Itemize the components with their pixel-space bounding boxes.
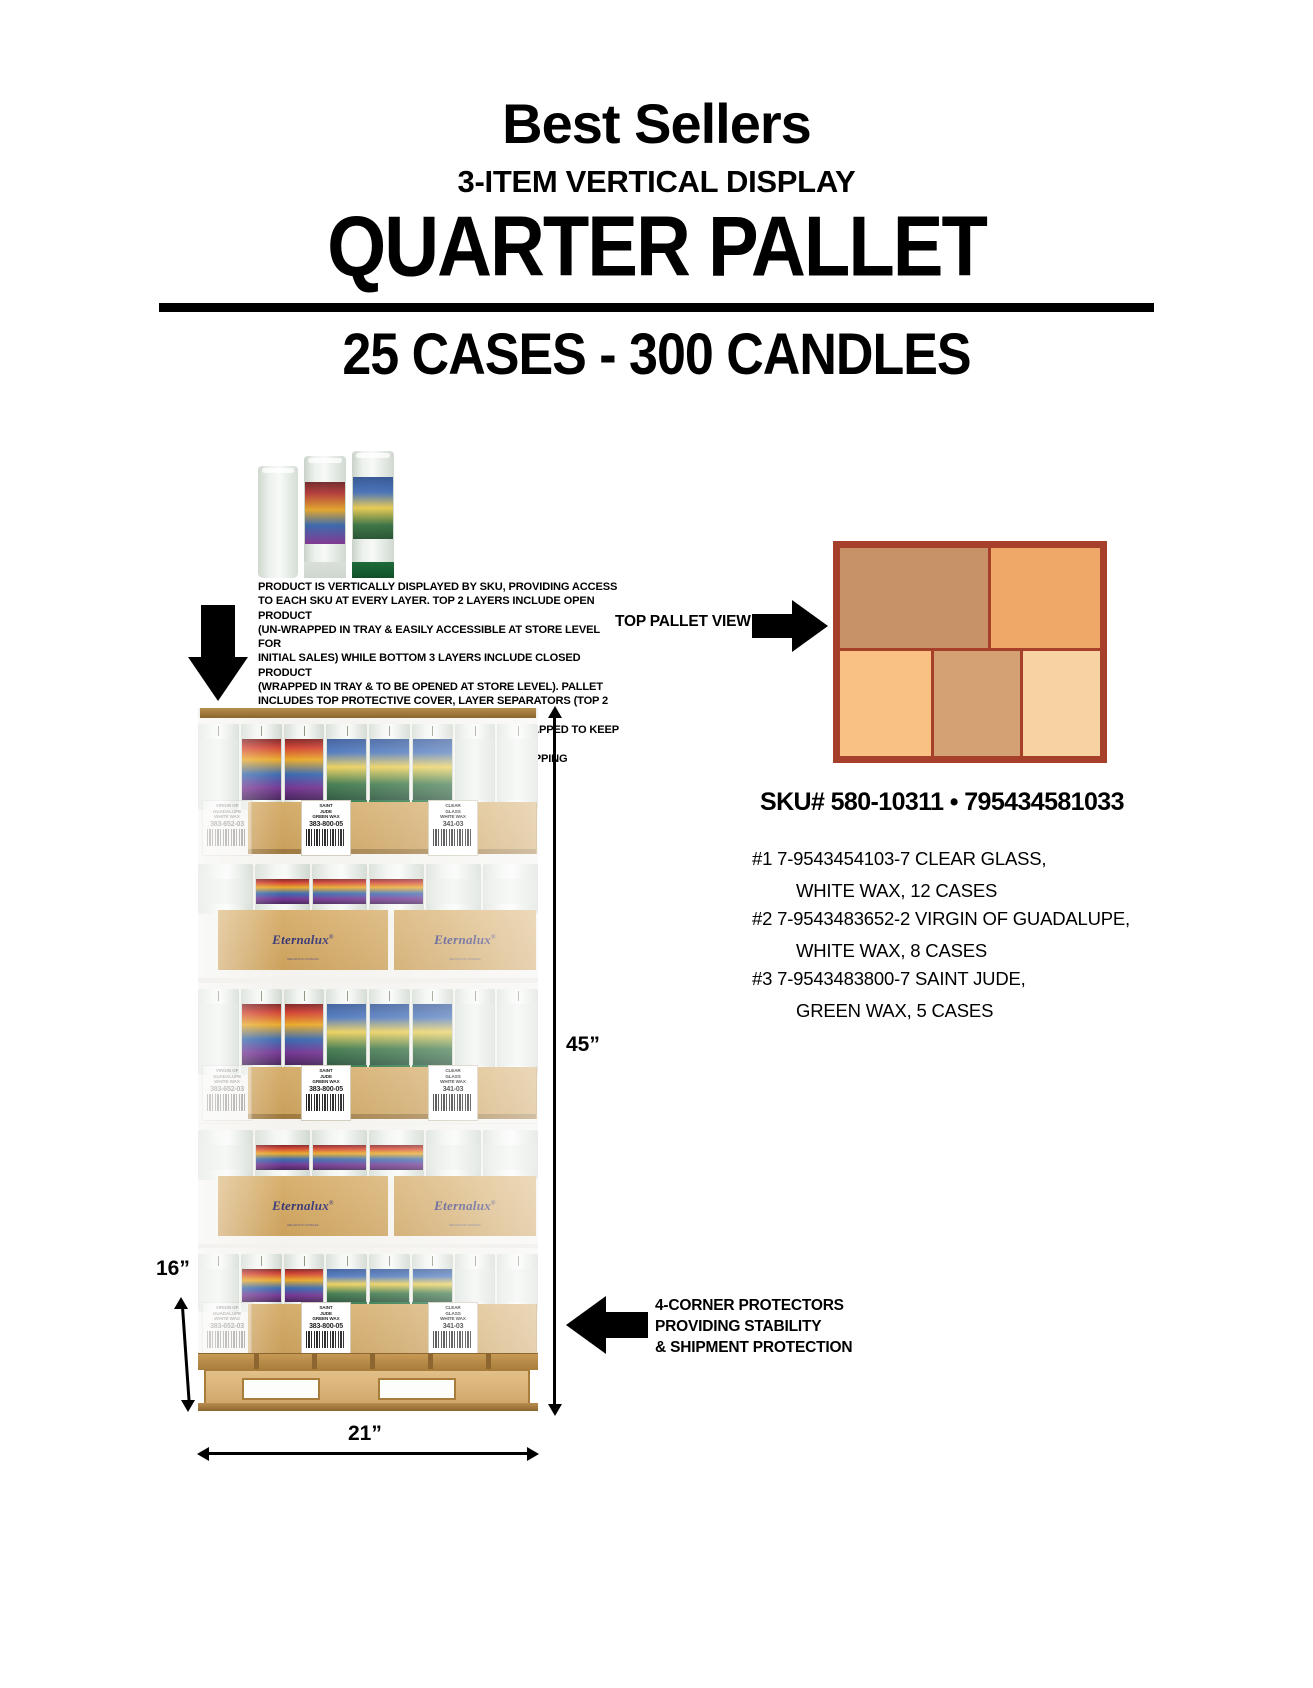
candle-rim — [308, 458, 342, 463]
pallet-stringer — [204, 1369, 530, 1407]
sku-item-list: #1 7-9543454103-7 CLEAR GLASS, WHITE WAX… — [752, 840, 1202, 1020]
case-label-guadalupe: VIRGIN OF GUADALUPE WHITE WAX 383-652-03 — [202, 800, 252, 856]
dimension-label-width: 21” — [348, 1422, 382, 1446]
arrow-left-icon — [566, 1296, 648, 1354]
candle-row — [198, 724, 538, 810]
top-pallet-view-grid — [840, 548, 1100, 756]
arrow-shaft — [752, 614, 796, 638]
candle-unit — [198, 989, 239, 1075]
candle-unit — [412, 989, 453, 1075]
pallet-layer-1-open: VIRGIN OF GUADALUPE WHITE WAX 383-652-03… — [198, 718, 538, 858]
sku-list-item: #2 7-9543483652-2 VIRGIN OF GUADALUPE, W… — [752, 900, 1202, 960]
candle-unit — [497, 724, 538, 810]
dimension-arrow-left — [197, 1447, 209, 1461]
candle-unit — [369, 989, 410, 1075]
sku-list-item: #1 7-9543454103-7 CLEAR GLASS, WHITE WAX… — [752, 840, 1202, 900]
candle-row — [198, 989, 538, 1075]
case-label-saint-jude: SAINT JUDE GREEN WAX 383-800-05 — [301, 1065, 351, 1121]
sku-heading: SKU# 580-10311 • 795434581033 — [760, 788, 1124, 817]
candle-unit — [483, 864, 538, 914]
pallet-slat-gap — [370, 1353, 375, 1369]
barcode — [433, 1094, 473, 1111]
pallet-fork-opening — [378, 1378, 456, 1400]
candle-unit — [198, 724, 239, 810]
candle-base — [304, 562, 346, 578]
case-label-saint-jude: SAINT JUDE GREEN WAX 383-800-05 — [301, 1302, 351, 1353]
candle-unit — [426, 864, 481, 914]
candle-unit — [198, 864, 253, 914]
pallet-slat-gap — [254, 1353, 259, 1369]
candle-rim — [262, 468, 294, 473]
dimension-line-height — [553, 716, 556, 1406]
barcode — [306, 829, 346, 846]
pallet-layer-3-open: VIRGIN OF GUADALUPE WHITE WAX 383-652-03… — [198, 983, 538, 1123]
candle-base — [352, 562, 394, 578]
pallet-layer-4-closed: Eternalux® RELIGIOUS CANDLES Eternalux® … — [198, 1124, 538, 1244]
sku-list-item: #3 7-9543483800-7 SAINT JUDE, GREEN WAX,… — [752, 960, 1202, 1020]
candle-row — [198, 1130, 538, 1180]
wrapped-case-brand-box: Eternalux® RELIGIOUS CANDLES — [218, 910, 388, 970]
arrow-head — [792, 600, 828, 652]
candle-unit — [426, 1130, 481, 1180]
candle-rim — [356, 453, 390, 458]
dimension-arrow-right — [527, 1447, 539, 1461]
case-label-clear-glass: CLEAR GLASS WHITE WAX 341-03 — [428, 1065, 478, 1121]
barcode — [207, 1094, 247, 1111]
candle-unit — [497, 989, 538, 1075]
wrapped-case-brand-box: Eternalux® RELIGIOUS CANDLES — [218, 1176, 388, 1236]
case-count-headline: 25 CASES - 300 CANDLES — [0, 326, 1313, 384]
pallet-bottom-board — [198, 1403, 538, 1411]
candle-unit — [241, 989, 282, 1075]
page-title: Best Sellers — [0, 96, 1313, 152]
pallet-type-title: QUARTER PALLET — [0, 205, 1313, 290]
arrow-head — [188, 657, 248, 701]
header-divider — [159, 303, 1154, 312]
pallet-layers: VIRGIN OF GUADALUPE WHITE WAX 383-652-03… — [198, 708, 538, 1353]
pallet-slat-gap — [486, 1353, 491, 1369]
dimension-line-base-height — [181, 1307, 191, 1407]
dimension-line-width — [209, 1452, 527, 1455]
dimension-label-height: 45” — [566, 1033, 600, 1057]
top-view-case-block-5 — [1023, 651, 1100, 756]
candle-product-photo — [258, 443, 398, 578]
candle-unit — [369, 864, 424, 914]
barcode — [433, 829, 473, 846]
candle-label-art — [305, 482, 345, 544]
candle-unit — [483, 1130, 538, 1180]
top-view-case-block-3 — [840, 651, 931, 756]
top-view-case-block-2 — [991, 548, 1100, 648]
top-view-case-block-4 — [934, 651, 1020, 756]
candle-label-art — [353, 477, 393, 539]
callout-corner-protectors: 4-CORNER PROTECTORS PROVIDING STABILITY … — [655, 1296, 985, 1359]
candle-unit — [326, 724, 367, 810]
barcode — [207, 1331, 247, 1348]
arrow-down-icon — [188, 605, 248, 701]
candle-unit — [412, 724, 453, 810]
candle-unit — [255, 864, 310, 914]
candle-unit — [284, 724, 325, 810]
candle-virgin-of-guadalupe — [304, 456, 346, 578]
candle-saint-jude — [352, 451, 394, 578]
candle-row — [198, 864, 538, 914]
wooden-pallet-base — [198, 1353, 538, 1411]
pallet-layer-2-closed: Eternalux® RELIGIOUS CANDLES Eternalux® … — [198, 858, 538, 978]
dimension-arrow-bottom — [181, 1400, 195, 1412]
dimension-arrow-top — [548, 706, 562, 718]
case-label-guadalupe: VIRGIN OF GUADALUPE WHITE WAX 383-652-03 — [202, 1302, 252, 1353]
arrow-shaft — [201, 605, 235, 659]
pallet-slat-gap — [428, 1353, 433, 1369]
candle-unit — [312, 1130, 367, 1180]
top-pallet-view-label: TOP PALLET VIEW — [615, 613, 751, 631]
candle-unit — [455, 989, 496, 1075]
arrow-head — [566, 1296, 606, 1354]
pallet-stack-diagram: VIRGIN OF GUADALUPE WHITE WAX 383-652-03… — [198, 708, 538, 1408]
page-subtitle: 3-ITEM VERTICAL DISPLAY — [0, 166, 1313, 197]
arrow-right-icon — [752, 600, 828, 650]
pallet-fork-opening — [242, 1378, 320, 1400]
top-pallet-view-diagram — [833, 541, 1107, 763]
wrapped-case-brand-box: Eternalux® RELIGIOUS CANDLES — [394, 1176, 536, 1236]
case-label-clear-glass: CLEAR GLASS WHITE WAX 341-03 — [428, 1302, 478, 1353]
wrapped-case-brand-box: Eternalux® RELIGIOUS CANDLES — [394, 910, 536, 970]
dimension-arrow-top — [174, 1297, 188, 1309]
candle-unit — [312, 864, 367, 914]
candle-unit — [369, 724, 410, 810]
case-label-guadalupe: VIRGIN OF GUADALUPE WHITE WAX 383-652-03 — [202, 1065, 252, 1121]
pallet-slat-gap — [312, 1353, 317, 1369]
dimension-label-base-height: 16” — [156, 1257, 190, 1281]
barcode — [433, 1331, 473, 1348]
case-label-clear-glass: CLEAR GLASS WHITE WAX 341-03 — [428, 800, 478, 856]
poster-header: Best Sellers 3-ITEM VERTICAL DISPLAY QUA… — [0, 0, 1313, 378]
barcode — [207, 829, 247, 846]
candle-unit — [369, 1130, 424, 1180]
barcode — [306, 1331, 346, 1348]
case-label-saint-jude: SAINT JUDE GREEN WAX 383-800-05 — [301, 800, 351, 856]
candle-unit — [326, 989, 367, 1075]
candle-unit — [241, 724, 282, 810]
pallet-layer-5-open: VIRGIN OF GUADALUPE WHITE WAX 383-652-03… — [198, 1248, 538, 1353]
top-view-case-block-1 — [840, 548, 988, 648]
candle-unit — [255, 1130, 310, 1180]
candle-unit — [455, 724, 496, 810]
candle-unit — [198, 1130, 253, 1180]
barcode — [306, 1094, 346, 1111]
top-protective-cover — [200, 708, 536, 718]
arrow-shaft — [602, 1312, 648, 1338]
candle-clear-glass — [258, 466, 298, 578]
dimension-arrow-bottom — [548, 1404, 562, 1416]
candle-unit — [284, 989, 325, 1075]
